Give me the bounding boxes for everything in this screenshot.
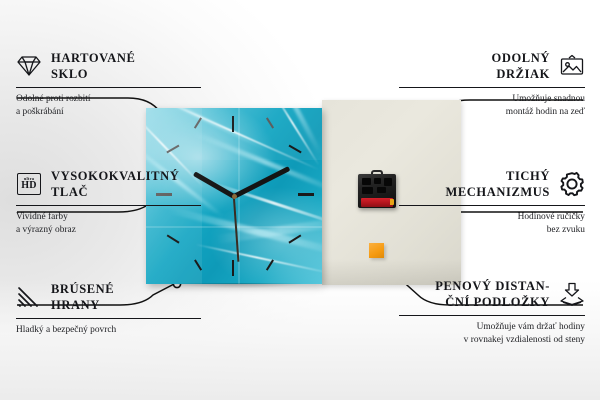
- feature-header: TICHÝ MECHANIZMUS: [399, 168, 585, 200]
- feature-description: Vividné farby a výrazný obraz: [16, 211, 201, 237]
- feature-description: Hodinové ručičky bez zvuku: [399, 211, 585, 237]
- picture-hanger-icon: [559, 53, 585, 79]
- feature-header: PENOVÝ DISTAN- ČNÍ PODLOŽKY: [399, 278, 585, 310]
- feature-divider: [399, 87, 585, 88]
- feature-header: BRÚSENÉ HRANY: [16, 281, 201, 313]
- clock-mechanism: [358, 170, 396, 208]
- feature-divider: [16, 87, 201, 88]
- feature-polished-edges: BRÚSENÉ HRANY Hladký a bezpečný povrch: [16, 281, 201, 337]
- feature-description: Umožňuje vám držať hodiny v rovnakej vzd…: [399, 321, 585, 347]
- ultra-hd-icon-main-text: HD: [21, 181, 37, 191]
- gear-icon: [559, 171, 585, 197]
- feature-header: ultra HD VYSOKOKVALITNÝ TLAČ: [16, 168, 201, 200]
- feature-description: Hladký a bezpečný povrch: [16, 324, 201, 337]
- feature-description: Umožňuje snadnou montáž hodin na zeď: [399, 93, 585, 119]
- feature-header: HARTOVANÉ SKLO: [16, 50, 201, 82]
- battery: [361, 198, 393, 207]
- infographic-stage: HARTOVANÉ SKLO Odolné proti rozbití a po…: [0, 0, 600, 400]
- mechanism-body: [358, 174, 396, 208]
- foam-spacer-icon: [559, 281, 585, 307]
- feature-description: Odolné proti rozbití a poškrábání: [16, 93, 201, 119]
- feature-title: PENOVÝ DISTAN- ČNÍ PODLOŽKY: [435, 278, 550, 310]
- feature-divider: [399, 315, 585, 316]
- ultra-hd-icon: ultra HD: [16, 171, 42, 197]
- feature-foam-spacers: PENOVÝ DISTAN- ČNÍ PODLOŽKY Umožňuje vám…: [399, 278, 585, 347]
- feature-high-quality-print: ultra HD VYSOKOKVALITNÝ TLAČ Vividné far…: [16, 168, 201, 237]
- diamond-icon: [16, 53, 42, 79]
- clock-center-cap: [232, 194, 237, 199]
- polished-edges-icon: [16, 284, 42, 310]
- feature-title: BRÚSENÉ HRANY: [51, 281, 114, 313]
- feature-divider: [16, 205, 201, 206]
- feature-title: ODOLNÝ DRŽIAK: [492, 50, 550, 82]
- feature-durable-hanger: ODOLNÝ DRŽIAK Umožňuje snadnou montáž ho…: [399, 50, 585, 119]
- feature-silent-mechanism: TICHÝ MECHANIZMUS Hodinové ručičky bez z…: [399, 168, 585, 237]
- feature-title: TICHÝ MECHANIZMUS: [445, 168, 550, 200]
- battery-terminal: [390, 199, 394, 205]
- feature-title: HARTOVANÉ SKLO: [51, 50, 135, 82]
- feature-header: ODOLNÝ DRŽIAK: [399, 50, 585, 82]
- feature-title: VYSOKOKVALITNÝ TLAČ: [51, 168, 179, 200]
- feature-hardened-glass: HARTOVANÉ SKLO Odolné proti rozbití a po…: [16, 50, 201, 119]
- feature-divider: [16, 318, 201, 319]
- clock-minute-hand: [233, 166, 291, 199]
- feature-divider: [399, 205, 585, 206]
- foam-spacer-pad: [369, 243, 384, 258]
